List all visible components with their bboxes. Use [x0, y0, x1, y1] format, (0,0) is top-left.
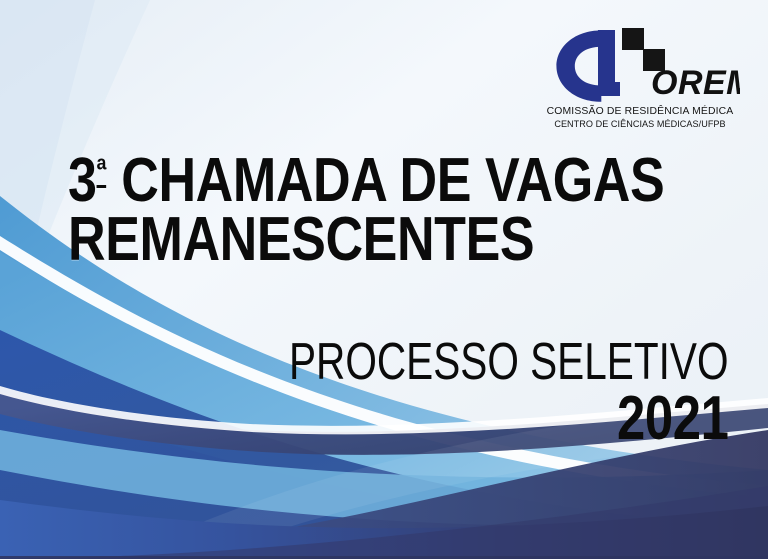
coreme-c-mark-icon: OREME — [540, 22, 740, 108]
poster-canvas: OREME COMISSÃO DE RESIDÊNCIA MÉDICA CENT… — [0, 0, 768, 559]
logo-subtitle-line2: CENTRO DE CIÊNCIAS MÉDICAS/UFPB — [540, 119, 740, 129]
headline: 3ª CHAMADA DE VAGAS REMANESCENTES — [68, 152, 664, 270]
headline-line-1: 3ª CHAMADA DE VAGAS — [68, 152, 664, 211]
subhead: PROCESSO SELETIVO 2021 — [165, 338, 729, 449]
subhead-year: 2021 — [266, 390, 728, 449]
logo-wordmark-text: OREME — [651, 64, 740, 102]
headline-ordinal-suffix: ª — [97, 152, 107, 188]
subhead-process-label: PROCESSO SELETIVO — [288, 338, 728, 388]
logo-mark-row: OREME — [540, 22, 740, 108]
headline-line-2: REMANESCENTES — [68, 211, 664, 270]
coreme-logo: OREME COMISSÃO DE RESIDÊNCIA MÉDICA CENT… — [540, 22, 740, 129]
